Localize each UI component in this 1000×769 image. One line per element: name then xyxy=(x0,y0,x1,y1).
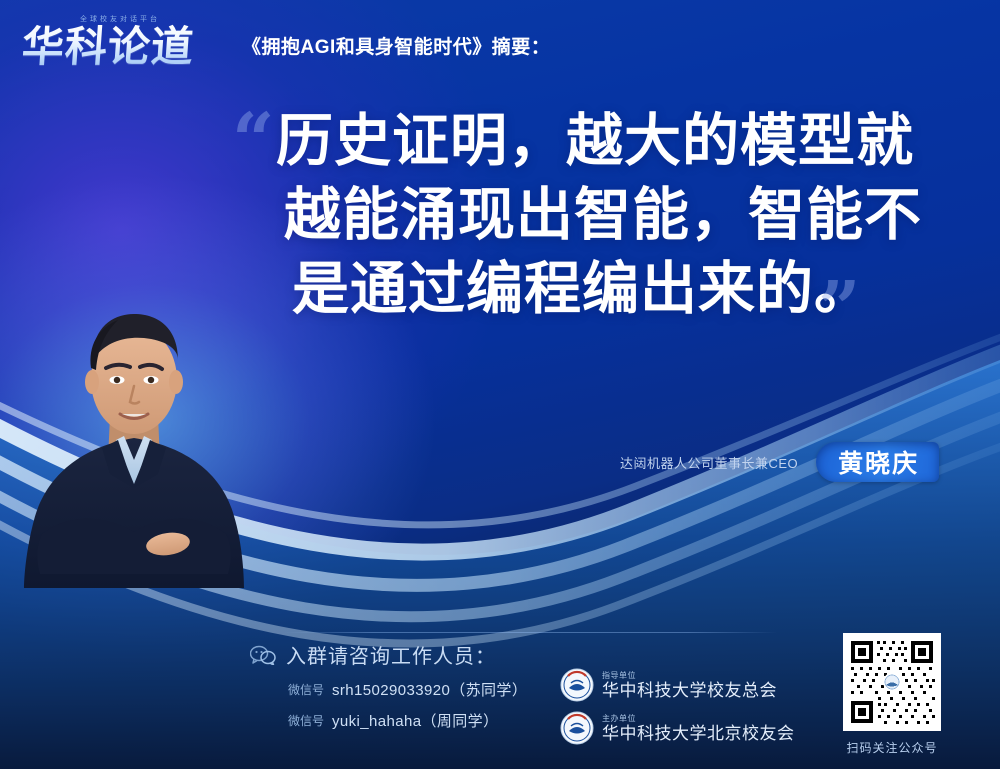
quote-text: 历史证明，越大的模型就 越能涌现出智能，智能不 是通过编程编出来的。 xyxy=(276,104,966,326)
header: 全球校友对话平台 华科论道 《拥抱AGI和具身智能时代》摘要： xyxy=(0,0,1000,90)
org-name: 华中科技大学北京校友会 xyxy=(602,724,795,744)
org-row: 主办单位 华中科技大学北京校友会 xyxy=(560,711,795,745)
poster-root: 全球校友对话平台 华科论道 《拥抱AGI和具身智能时代》摘要： “ 历史证明，越… xyxy=(0,0,1000,769)
speaker-role: 达闼机器人公司董事长兼CEO xyxy=(620,453,798,472)
quote-line: 越能涌现出智能，智能不 xyxy=(284,178,966,252)
quote-open-mark: “ xyxy=(232,104,275,178)
quote-line: 是通过编程编出来的。 xyxy=(292,252,966,326)
contact-label: 微信号 xyxy=(288,681,324,698)
brand-name: 华科论道 xyxy=(20,22,219,72)
qr-block: 扫码关注公众号 xyxy=(843,633,941,756)
speaker-portrait xyxy=(18,288,250,588)
contact-value[interactable]: srh15029033920（苏同学） xyxy=(332,679,527,700)
footer-divider xyxy=(283,632,777,633)
quote-line: 历史证明，越大的模型就 xyxy=(276,104,966,178)
footer-title: 入群请咨询工作人员： xyxy=(286,640,496,669)
qr-caption: 扫码关注公众号 xyxy=(843,739,941,756)
wechat-icon xyxy=(250,645,276,665)
brand-logo: 全球校友对话平台 华科论道 xyxy=(22,14,218,76)
org-name: 华中科技大学校友总会 xyxy=(602,681,777,701)
hust-seal-icon xyxy=(560,668,594,702)
contact-value[interactable]: yuki_hahaha（周同学） xyxy=(332,710,498,731)
page-title: 《拥抱AGI和具身智能时代》摘要： xyxy=(242,32,550,59)
organizations: 指导单位 华中科技大学校友总会 主办单位 华中科技大学北京校友会 xyxy=(560,668,795,754)
qr-code[interactable] xyxy=(843,633,941,731)
org-kind: 主办单位 xyxy=(602,713,795,724)
org-row: 指导单位 华中科技大学校友总会 xyxy=(560,668,795,702)
speaker-name: 黄晓庆 xyxy=(838,444,919,480)
quote-close-mark: ” xyxy=(818,272,861,346)
hust-seal-icon xyxy=(560,711,594,745)
speaker-name-badge: 黄晓庆 xyxy=(816,442,939,482)
contact-label: 微信号 xyxy=(288,712,324,729)
org-kind: 指导单位 xyxy=(602,670,777,681)
attribution: 达闼机器人公司董事长兼CEO 黄晓庆 xyxy=(620,442,939,482)
